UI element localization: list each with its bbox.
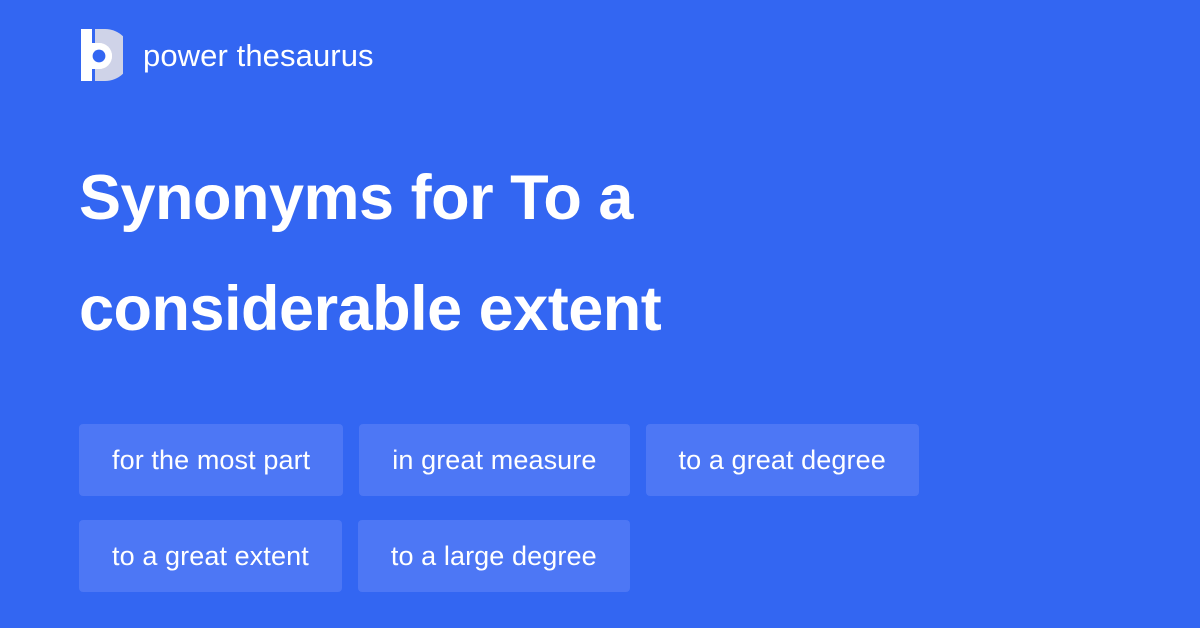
synonym-chip[interactable]: to a great extent: [79, 520, 342, 592]
page-title: Synonyms for To a considerable extent: [79, 143, 1079, 365]
power-thesaurus-logo-icon: [79, 29, 123, 81]
synonym-chip[interactable]: to a great degree: [646, 424, 919, 496]
page-title-line-2: considerable extent: [79, 254, 1079, 365]
page-title-line-1: Synonyms for To a: [79, 143, 1079, 254]
brand-header[interactable]: powerthesaurus: [79, 29, 374, 81]
synonym-chip[interactable]: for the most part: [79, 424, 343, 496]
share-card: powerthesaurus Synonyms for To a conside…: [0, 0, 1200, 628]
synonym-list: for the most part in great measure to a …: [79, 424, 1139, 592]
synonym-chip[interactable]: in great measure: [359, 424, 629, 496]
brand-word-thesaurus: thesaurus: [237, 40, 374, 71]
synonym-chip[interactable]: to a large degree: [358, 520, 630, 592]
brand-word-power: power: [143, 40, 228, 71]
brand-wordmark: powerthesaurus: [143, 40, 374, 71]
